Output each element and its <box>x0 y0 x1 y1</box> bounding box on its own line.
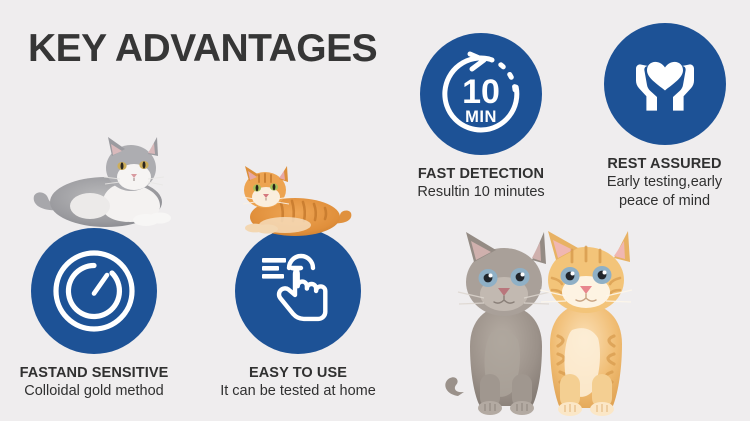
timer-unit: MIN <box>465 108 497 126</box>
feature-subtitle-line1: Early testing,early <box>582 173 747 192</box>
gauge-speedometer-icon <box>51 248 137 334</box>
feature-title: FASTAND SENSITIVE <box>0 364 194 382</box>
feature-title: FAST DETECTION <box>392 165 570 183</box>
feature-icon-circle: 10 MIN <box>420 33 542 155</box>
feature-fast-detection: 10 MIN FAST DETECTION Resultin 10 minute… <box>392 33 570 202</box>
hand-tap-icon <box>256 249 340 333</box>
kitten-gray <box>445 232 550 415</box>
feature-icon-circle <box>31 228 157 354</box>
ten-minute-timer-icon: 10 MIN <box>435 48 527 140</box>
key-advantages-poster: KEY ADVANTAGES FASTAND SENSITIVE Colloid… <box>0 0 750 433</box>
feature-subtitle-line2: peace of mind <box>582 192 747 211</box>
feature-title: REST ASSURED <box>582 155 747 173</box>
kittens-pair-image <box>440 228 650 421</box>
feature-fast-sensitive: FASTAND SENSITIVE Colloidal gold method <box>0 228 194 401</box>
page-title: KEY ADVANTAGES <box>28 29 377 68</box>
timer-number: 10 <box>462 73 500 111</box>
hands-holding-heart-icon <box>627 46 703 122</box>
feature-subtitle: Resultin 10 minutes <box>392 183 570 202</box>
cat-gray-lying-image <box>28 132 188 237</box>
cat-orange-lying-image <box>233 163 355 241</box>
feature-subtitle: It can be tested at home <box>198 382 398 401</box>
feature-easy-to-use: EASY TO USE It can be tested at home <box>198 228 398 401</box>
feature-title: EASY TO USE <box>198 364 398 382</box>
feature-icon-circle <box>235 228 361 354</box>
kitten-orange <box>540 231 632 416</box>
feature-subtitle: Colloidal gold method <box>0 382 194 401</box>
feature-rest-assured: REST ASSURED Early testing,early peace o… <box>582 23 747 211</box>
feature-icon-circle <box>604 23 726 145</box>
